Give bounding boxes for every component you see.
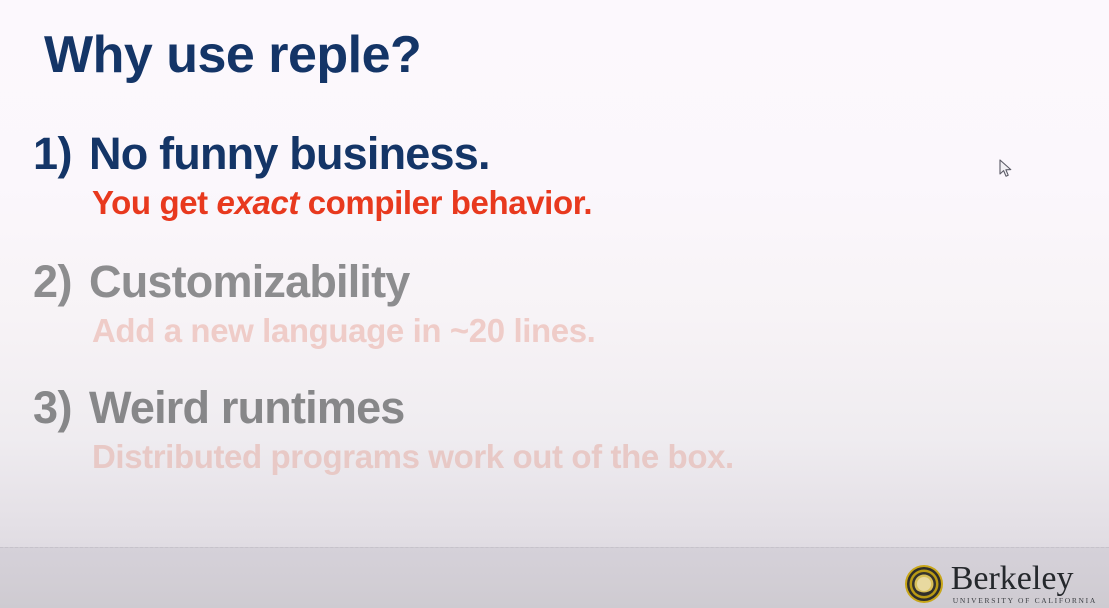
list-item-heading: 1) No funny business.	[0, 128, 1000, 180]
slide-footer: Berkeley UNIVERSITY OF CALIFORNIA	[0, 547, 1109, 608]
list-item: 1) No funny business. You get exact comp…	[0, 128, 1000, 222]
mouse-pointer-icon	[999, 159, 1013, 179]
subtitle-prefix: Add a new language in ~20 lines.	[92, 312, 595, 349]
numbered-list: 1) No funny business. You get exact comp…	[0, 128, 1000, 476]
list-item-subtitle: Add a new language in ~20 lines.	[92, 312, 1000, 350]
list-item: 3) Weird runtimes Distributed programs w…	[0, 382, 1000, 476]
subtitle-suffix: compiler behavior.	[299, 184, 592, 221]
list-item-title: No funny business.	[89, 128, 490, 180]
list-item-heading: 2) Customizability	[0, 256, 1000, 308]
list-item-number: 1)	[33, 128, 89, 180]
page-title: Why use reple?	[44, 25, 421, 85]
subtitle-prefix: Distributed programs work out of the box…	[92, 438, 734, 475]
list-item-title: Weird runtimes	[89, 382, 405, 434]
list-item-subtitle: You get exact compiler behavior.	[92, 184, 1000, 222]
presentation-slide: Why use reple? 1) No funny business. You…	[0, 0, 1109, 608]
berkeley-name: Berkeley	[951, 563, 1097, 594]
subtitle-prefix: You get	[92, 184, 217, 221]
list-item-subtitle: Distributed programs work out of the box…	[92, 438, 1000, 476]
list-item-number: 2)	[33, 256, 89, 308]
list-item-heading: 3) Weird runtimes	[0, 382, 1000, 434]
berkeley-seal-icon	[904, 564, 944, 604]
list-item: 2) Customizability Add a new language in…	[0, 256, 1000, 350]
berkeley-tagline: UNIVERSITY OF CALIFORNIA	[953, 597, 1097, 605]
subtitle-emphasis: exact	[217, 184, 299, 221]
berkeley-wordmark: Berkeley UNIVERSITY OF CALIFORNIA	[951, 563, 1097, 604]
list-item-title: Customizability	[89, 256, 410, 308]
berkeley-logo: Berkeley UNIVERSITY OF CALIFORNIA	[904, 563, 1097, 604]
list-item-number: 3)	[33, 382, 89, 434]
